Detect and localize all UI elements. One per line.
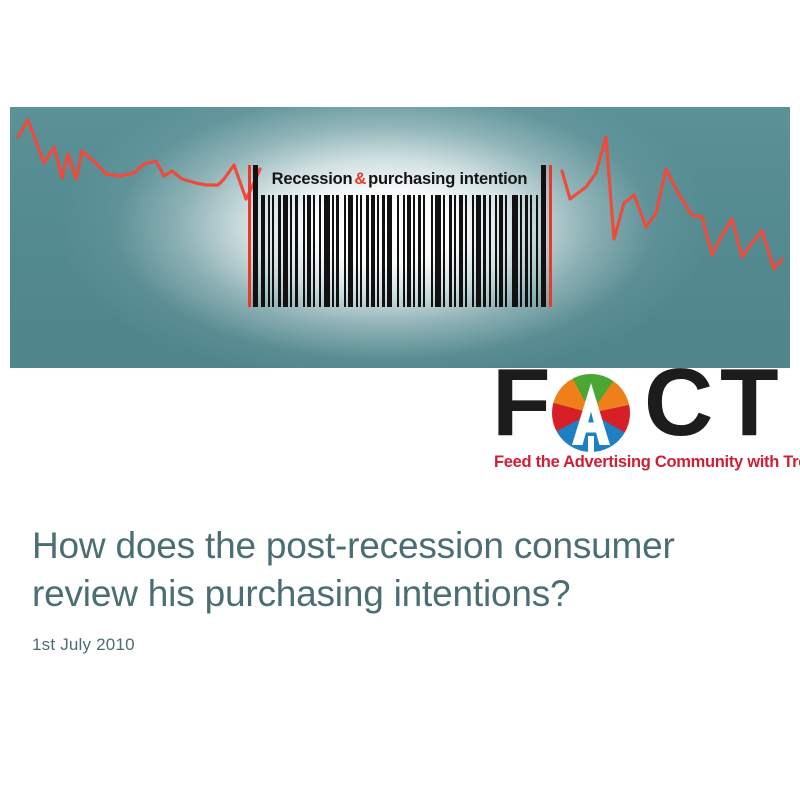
hero-banner: Recession & purchasing intention — [10, 107, 790, 368]
logo-letter-f: F — [492, 364, 548, 442]
barcode-bars — [261, 195, 538, 307]
barcode-guard-left — [248, 165, 251, 307]
barcode-label-suffix: purchasing intention — [368, 170, 527, 189]
title-block: How does the post-recession consumer rev… — [32, 522, 762, 656]
page-title-line-2: review his purchasing intentions? — [32, 573, 570, 614]
barcode-graphic: Recession & purchasing intention — [245, 165, 555, 307]
barcode-edge-bar-right — [541, 165, 546, 307]
fact-logo: F C T Feed the Advertising Community wit… — [492, 373, 792, 478]
barcode-guard-right — [549, 165, 552, 307]
barcode-label-prefix: Recession — [272, 170, 353, 189]
logo-letter-c: C — [644, 364, 710, 442]
logo-letter-a-disc-icon — [552, 374, 630, 452]
barcode-label: Recession & purchasing intention — [261, 165, 538, 193]
page-title-line-1: How does the post-recession consumer — [32, 525, 675, 566]
logo-tagline: Feed the Advertising Community with Tren… — [494, 453, 800, 472]
fact-logo-wordmark: F C T — [492, 373, 792, 451]
trend-line-left — [18, 120, 260, 199]
logo-a-letter-cutout — [552, 374, 630, 452]
page-date: 1st July 2010 — [32, 634, 762, 656]
trend-line-right — [562, 137, 782, 269]
barcode-edge-bar-left — [253, 165, 258, 307]
logo-letter-t: T — [720, 364, 776, 442]
page-title: How does the post-recession consumer rev… — [32, 522, 762, 618]
barcode-label-ampersand: & — [354, 170, 366, 189]
